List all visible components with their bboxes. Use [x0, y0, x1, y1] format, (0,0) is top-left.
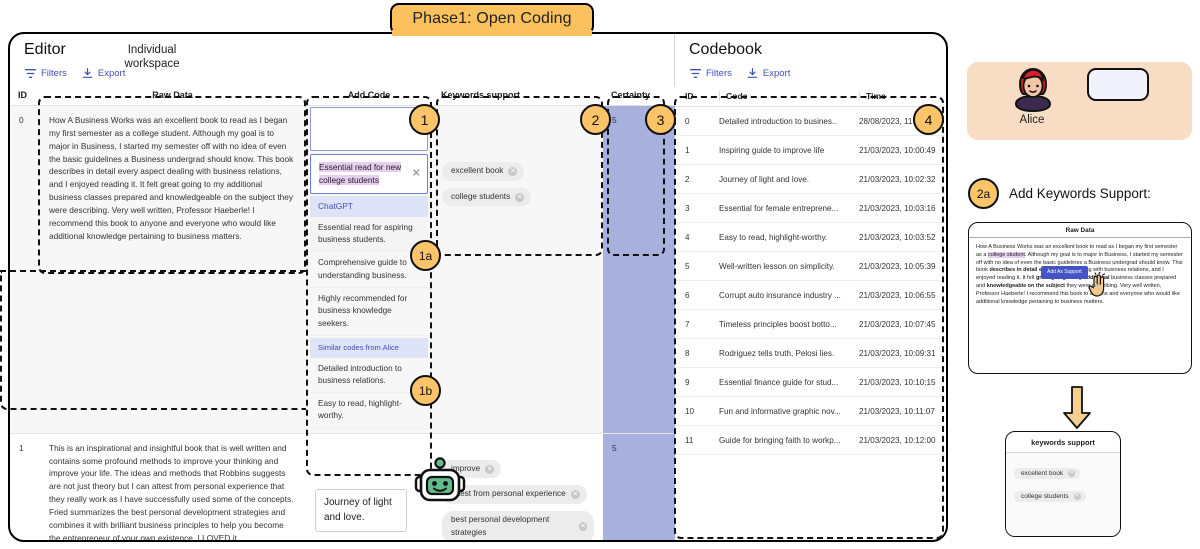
codebook-row-code: Essential for female entreprene...: [715, 194, 855, 223]
codebook-filters-button[interactable]: Filters: [689, 67, 732, 80]
remove-keyword-icon[interactable]: ✕: [579, 522, 587, 531]
down-arrow-icon: [1060, 385, 1094, 431]
row-id: 0: [10, 106, 40, 434]
keywords-support-header: keywords support: [1006, 432, 1120, 453]
suggestion-option[interactable]: Easy to read, highlight-worthy.: [310, 393, 428, 429]
editor-table: ID Raw Data Add Code Keywords support Ce…: [10, 86, 675, 542]
codebook-row-time: 21/03/2023, 10:02:32: [855, 165, 948, 194]
suggestion-option[interactable]: Highly recommended for business knowledg…: [310, 288, 428, 336]
keyword-chip[interactable]: college students✕: [1014, 491, 1086, 502]
keyword-chip-label: excellent book: [1021, 470, 1063, 477]
codebook-row-time: 21/03/2023, 10:12:00: [855, 426, 948, 455]
row-certainty: 5: [603, 433, 675, 542]
col-raw-data: Raw Data: [40, 86, 305, 106]
suggestion-group-alice: Similar codes from Alice: [310, 338, 428, 358]
codebook-row-time: 21/03/2023, 10:00:49: [855, 136, 948, 165]
codebook-row-id: 2: [675, 165, 715, 194]
codebook-row-code: Rodriguez tells truth, Pelosi lies.: [715, 339, 855, 368]
codebook-row-id: 9: [675, 368, 715, 397]
codebook-row-time: 21/03/2023, 10:09:31: [855, 339, 948, 368]
table-row[interactable]: 7Timeless principles boost botto...21/03…: [675, 310, 948, 339]
annot-marker-1a: 1a: [410, 240, 441, 271]
add-code-selected[interactable]: Essential read for new college students …: [310, 154, 428, 194]
codebook-row-time: 21/03/2023, 10:07:45: [855, 310, 948, 339]
keyword-chip[interactable]: excellent book✕: [442, 162, 524, 181]
codebook-table-header: ID Code Time: [675, 86, 948, 107]
codebook-row-time: 21/03/2023, 10:05:39: [855, 252, 948, 281]
col-id: ID: [675, 86, 715, 107]
keyword-chip[interactable]: best personal development strategies✕: [442, 511, 594, 542]
table-row[interactable]: 3Essential for female entreprene...21/03…: [675, 194, 948, 223]
add-code-selected-label: Essential read for new college students: [319, 162, 401, 185]
col-add-code: Add Code: [305, 86, 433, 106]
annot-marker-4: 4: [913, 104, 944, 135]
col-id: ID: [10, 86, 40, 106]
codebook-row-time: 21/03/2023, 10:10:15: [855, 368, 948, 397]
step-2a-row: 2a Add Keywords Support:: [968, 178, 1151, 209]
col-code: Code: [715, 86, 855, 107]
remove-keyword-icon[interactable]: ✕: [515, 193, 524, 202]
bot-suggestion-text: Journey of light and love.: [324, 497, 392, 523]
robot-icon[interactable]: [412, 455, 468, 511]
raw-text-highlight: college student: [988, 252, 1025, 258]
filter-icon: [689, 67, 702, 80]
col-code-label: Code: [719, 91, 851, 101]
banner-notch: [392, 30, 592, 36]
keywords-support-card: keywords support excellent book✕ college…: [1005, 431, 1121, 537]
codebook-row-time: 21/03/2023, 10:06:55: [855, 281, 948, 310]
download-icon: [746, 67, 759, 80]
codebook-row-code: Journey of light and love.: [715, 165, 855, 194]
bot-suggestion-tooltip: Journey of light and love.: [315, 489, 407, 532]
annot-marker-1: 1: [409, 104, 440, 135]
raw-text-bold3: knowledgeable on the subject: [987, 283, 1065, 289]
codebook-row-id: 6: [675, 281, 715, 310]
keyword-chip-label: excellent book: [451, 165, 503, 178]
keyword-chip-label: attest from personal experience: [451, 488, 566, 501]
remove-keyword-icon[interactable]: ✕: [1074, 493, 1081, 500]
codebook-row-code: Inspiring guide to improve life: [715, 136, 855, 165]
codebook-row-code: Timeless principles boost botto...: [715, 310, 855, 339]
row-certainty: 5: [603, 106, 675, 434]
codebook-row-id: 5: [675, 252, 715, 281]
alice-card: Alice: [967, 62, 1192, 140]
codebook-row-code: Guide for bringing faith to workp...: [715, 426, 855, 455]
codebook-row-code: Well-written lesson on simplicity.: [715, 252, 855, 281]
codebook-row-time: 21/03/2023, 10:03:52: [855, 223, 948, 252]
codebook-row-time: 21/03/2023, 10:11:07: [855, 397, 948, 426]
keywords-support-body: excellent book✕ college students✕: [1006, 453, 1120, 537]
raw-data-preview-body: How A Business Works was an excellent bo…: [969, 238, 1191, 312]
editor-table-header: ID Raw Data Add Code Keywords support Ce…: [10, 86, 675, 106]
annot-marker-2a: 2a: [968, 178, 999, 209]
remove-keyword-icon[interactable]: ✕: [1068, 470, 1075, 477]
codebook-row-code: Fun and informative graphic nov...: [715, 397, 855, 426]
table-row[interactable]: 0 How A Business Works was an excellent …: [10, 106, 675, 434]
add-as-support-label: Add As Support: [1047, 269, 1082, 275]
table-row[interactable]: 6Corrupt auto insurance industry ...21/0…: [675, 281, 948, 310]
codebook-row-code: Essential finance guide for stud...: [715, 368, 855, 397]
table-row[interactable]: 8Rodriguez tells truth, Pelosi lies.21/0…: [675, 339, 948, 368]
col-certainty: Certainty: [603, 86, 675, 106]
add-as-support-button[interactable]: Add As Support: [1041, 266, 1088, 279]
keyword-chip-label: college students: [1021, 493, 1069, 500]
workspace-label: Individual workspace: [104, 43, 200, 72]
codebook-row-id: 0: [675, 107, 715, 136]
keyword-chip-label: best personal development strategies: [451, 514, 574, 539]
table-row[interactable]: 5Well-written lesson on simplicity.21/03…: [675, 252, 948, 281]
raw-data-preview-card: Raw Data How A Business Works was an exc…: [968, 222, 1192, 374]
table-row[interactable]: 1Inspiring guide to improve life21/03/20…: [675, 136, 948, 165]
codebook-toolbar: Filters Export: [675, 63, 948, 86]
phase-banner-label: Phase1: Open Coding: [412, 10, 571, 28]
codebook-filters-label: Filters: [706, 68, 732, 79]
annot-marker-2: 2: [580, 104, 611, 135]
editor-filters-button[interactable]: Filters: [24, 67, 67, 80]
codebook-title: Codebook: [675, 34, 948, 63]
codebook-row-id: 3: [675, 194, 715, 223]
annot-marker-1b: 1b: [410, 375, 441, 406]
codebook-panel: Codebook Filters Export ID Code: [675, 34, 948, 540]
row-id: 1: [10, 433, 40, 542]
table-row[interactable]: 4Easy to read, highlight-worthy.21/03/20…: [675, 223, 948, 252]
codebook-row-id: 11: [675, 426, 715, 455]
table-row[interactable]: 2Journey of light and love.21/03/2023, 1…: [675, 165, 948, 194]
remove-keyword-icon[interactable]: ✕: [508, 167, 517, 176]
table-row[interactable]: 10Fun and informative graphic nov...21/0…: [675, 397, 948, 426]
row-raw-data: This is an inspirational and insightful …: [40, 433, 305, 542]
remove-keyword-icon[interactable]: ✕: [485, 465, 494, 474]
keyword-chip[interactable]: excellent book✕: [1014, 468, 1080, 479]
keyword-chip[interactable]: college students✕: [442, 188, 531, 207]
codebook-row-id: 1: [675, 136, 715, 165]
alice-name-label: Alice: [997, 114, 1067, 126]
suggestion-option[interactable]: Essential read for aspiring business stu…: [310, 217, 428, 253]
download-icon: [81, 67, 94, 80]
avatar-icon: [1007, 64, 1059, 116]
workspace-box: [1087, 68, 1149, 101]
raw-data-preview-header: Raw Data: [969, 223, 1191, 238]
codebook-row-code: Detailed introduction to busines..: [715, 107, 855, 136]
workspace-label-text: Individual workspace: [125, 44, 180, 70]
table-row[interactable]: 11Guide for bringing faith to workp...21…: [675, 426, 948, 455]
codebook-row-id: 4: [675, 223, 715, 252]
codebook-table: ID Code Time 0Detailed introduction to b…: [675, 86, 948, 455]
editor-panel: Editor Filters Export ID: [10, 34, 675, 540]
codebook-row-code: Corrupt auto insurance industry ...: [715, 281, 855, 310]
hand-cursor-icon: [1087, 272, 1109, 298]
remove-keyword-icon[interactable]: ✕: [571, 490, 580, 499]
col-time: Time: [855, 86, 948, 107]
codebook-row-id: 7: [675, 310, 715, 339]
keyword-chip-label: college students: [451, 191, 510, 204]
table-row[interactable]: 9Essential finance guide for stud...21/0…: [675, 368, 948, 397]
step-2a-label: Add Keywords Support:: [1009, 186, 1151, 201]
codebook-row-id: 10: [675, 397, 715, 426]
col-keywords-support: Keywords support: [433, 86, 603, 106]
col-time-label: Time: [859, 91, 946, 101]
codebook-export-label: Export: [763, 68, 790, 79]
table-row[interactable]: 0Detailed introduction to busines..28/08…: [675, 107, 948, 136]
close-icon[interactable]: ✕: [412, 165, 421, 182]
editor-filters-label: Filters: [41, 68, 67, 79]
filter-icon: [24, 67, 37, 80]
app-window: Editor Filters Export ID: [8, 32, 948, 542]
row-keywords-cell: excellent book✕ college students✕: [433, 106, 603, 434]
codebook-export-button[interactable]: Export: [746, 67, 790, 80]
suggestion-group-chatgpt: ChatGPT: [310, 196, 428, 217]
row-raw-data: How A Business Works was an excellent bo…: [40, 106, 305, 434]
annot-marker-3: 3: [645, 104, 676, 135]
codebook-row-code: Easy to read, highlight-worthy.: [715, 223, 855, 252]
codebook-row-time: 21/03/2023, 10:03:16: [855, 194, 948, 223]
codebook-row-id: 8: [675, 339, 715, 368]
